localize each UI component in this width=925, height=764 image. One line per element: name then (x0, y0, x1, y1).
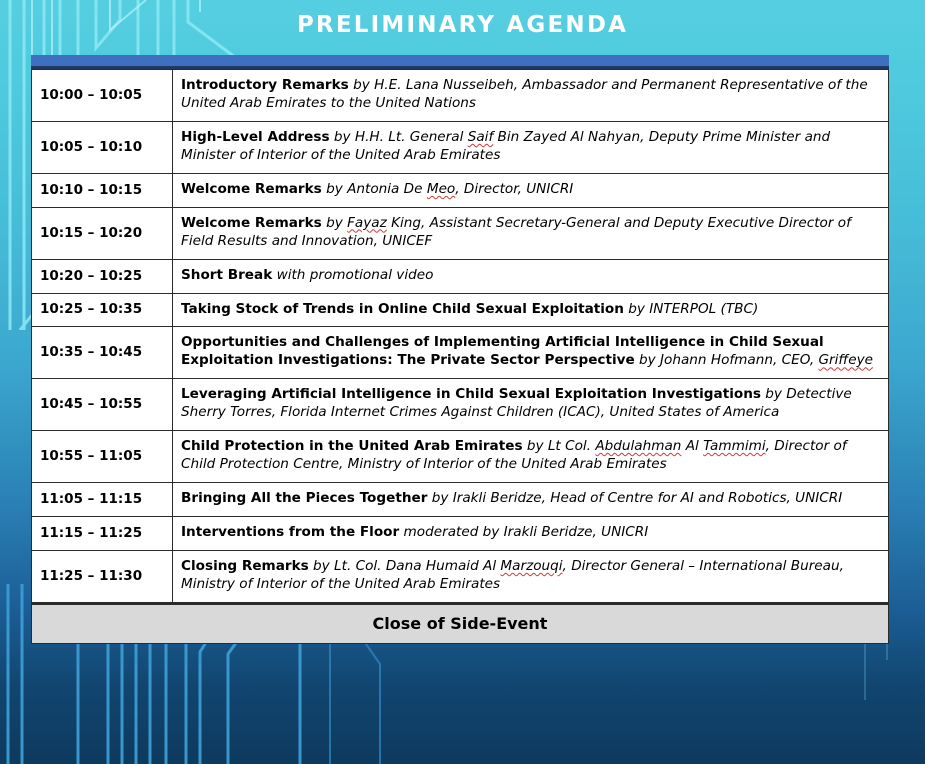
session-time: 10:00 – 10:05 (32, 70, 173, 122)
table-row: 10:15 – 10:20Welcome Remarks by Fayaz Ki… (32, 207, 889, 259)
table-row: 10:05 – 10:10High-Level Address by H.H. … (32, 121, 889, 173)
table-header-bar (31, 55, 889, 69)
closing-banner: Close of Side-Event (31, 603, 889, 644)
session-speaker: by INTERPOL (TBC) (624, 301, 758, 317)
session-time: 11:05 – 11:15 (32, 483, 173, 517)
session-time: 10:15 – 10:20 (32, 207, 173, 259)
session-title: Welcome Remarks (181, 215, 322, 231)
spellcheck-underline: Fayaz (347, 215, 387, 231)
slide-canvas: PRELIMINARY AGENDA 10:00 – 10:05Introduc… (0, 0, 925, 764)
table-row: 11:15 – 11:25Interventions from the Floo… (32, 517, 889, 551)
session-title: Taking Stock of Trends in Online Child S… (181, 301, 624, 317)
session-time: 11:25 – 11:30 (32, 550, 173, 602)
spellcheck-underline: Meo (427, 181, 455, 197)
table-row: 10:25 – 10:35Taking Stock of Trends in O… (32, 293, 889, 327)
session-time: 10:20 – 10:25 (32, 259, 173, 293)
session-title: Bringing All the Pieces Together (181, 490, 427, 506)
table-row: 10:55 – 11:05Child Protection in the Uni… (32, 431, 889, 483)
table-row: 11:05 – 11:15Bringing All the Pieces Tog… (32, 483, 889, 517)
agenda-container: 10:00 – 10:05Introductory Remarks by H.E… (31, 55, 889, 644)
session-time: 10:45 – 10:55 (32, 379, 173, 431)
session-title: Welcome Remarks (181, 181, 322, 197)
page-title: PRELIMINARY AGENDA (0, 12, 925, 38)
spellcheck-underline: Griffeye (819, 352, 873, 368)
table-row: 10:00 – 10:05Introductory Remarks by H.E… (32, 70, 889, 122)
session-speaker: by Antonia De Meo, Director, UNICRI (322, 181, 574, 197)
spellcheck-underline: Saif (468, 129, 494, 145)
session-time: 10:05 – 10:10 (32, 121, 173, 173)
session-description: Welcome Remarks by Antonia De Meo, Direc… (173, 173, 889, 207)
agenda-table: 10:00 – 10:05Introductory Remarks by H.E… (31, 69, 889, 603)
table-row: 10:20 – 10:25Short Break with promotiona… (32, 259, 889, 293)
session-speaker: moderated by Irakli Beridze, UNICRI (399, 524, 648, 540)
session-description: High-Level Address by H.H. Lt. General S… (173, 121, 889, 173)
session-time: 10:35 – 10:45 (32, 327, 173, 379)
spellcheck-underline: Tammimi (703, 438, 766, 454)
table-row: 10:45 – 10:55Leveraging Artificial Intel… (32, 379, 889, 431)
session-speaker: by Johann Hofmann, CEO, Griffeye (635, 352, 873, 368)
session-description: Taking Stock of Trends in Online Child S… (173, 293, 889, 327)
session-time: 10:55 – 11:05 (32, 431, 173, 483)
session-speaker: by Irakli Beridze, Head of Centre for AI… (427, 490, 842, 506)
table-row: 10:10 – 10:15Welcome Remarks by Antonia … (32, 173, 889, 207)
table-row: 10:35 – 10:45Opportunities and Challenge… (32, 327, 889, 379)
session-description: Welcome Remarks by Fayaz King, Assistant… (173, 207, 889, 259)
spellcheck-underline: Abdulahman (595, 438, 681, 454)
session-time: 10:25 – 10:35 (32, 293, 173, 327)
session-description: Short Break with promotional video (173, 259, 889, 293)
session-description: Closing Remarks by Lt. Col. Dana Humaid … (173, 550, 889, 602)
session-title: Child Protection in the United Arab Emir… (181, 438, 523, 454)
session-title: Leveraging Artificial Intelligence in Ch… (181, 386, 761, 402)
session-description: Interventions from the Floor moderated b… (173, 517, 889, 551)
session-description: Opportunities and Challenges of Implemen… (173, 327, 889, 379)
session-title: Interventions from the Floor (181, 524, 399, 540)
spellcheck-underline: Marzouqi (500, 558, 562, 574)
session-title: Introductory Remarks (181, 77, 349, 93)
session-time: 10:10 – 10:15 (32, 173, 173, 207)
session-description: Child Protection in the United Arab Emir… (173, 431, 889, 483)
session-time: 11:15 – 11:25 (32, 517, 173, 551)
table-row: 11:25 – 11:30Closing Remarks by Lt. Col.… (32, 550, 889, 602)
session-description: Leveraging Artificial Intelligence in Ch… (173, 379, 889, 431)
session-speaker: with promotional video (272, 267, 433, 283)
session-description: Bringing All the Pieces Together by Irak… (173, 483, 889, 517)
session-title: High-Level Address (181, 129, 330, 145)
session-title: Closing Remarks (181, 558, 309, 574)
session-description: Introductory Remarks by H.E. Lana Nussei… (173, 70, 889, 122)
session-title: Short Break (181, 267, 272, 283)
